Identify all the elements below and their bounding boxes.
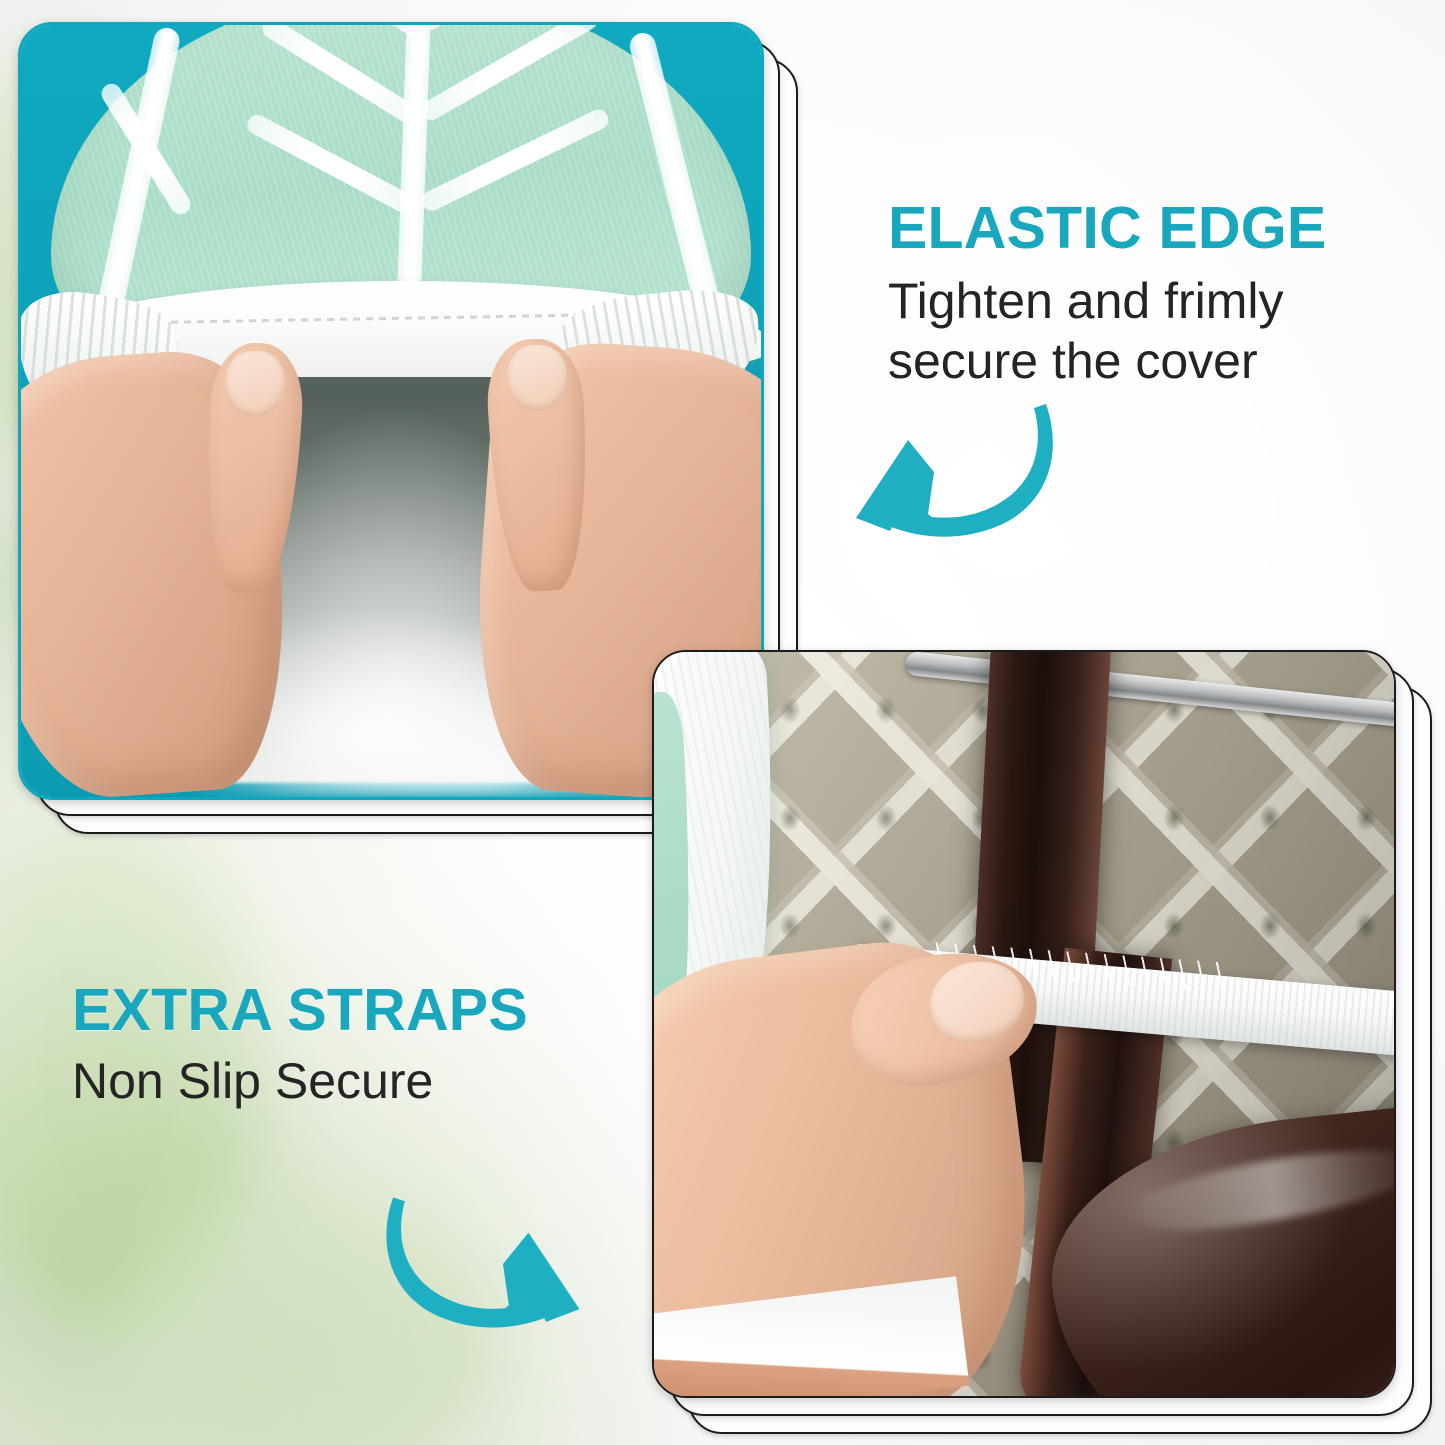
fabric-vein xyxy=(259,25,422,127)
fabric-vein xyxy=(419,106,612,214)
feature-title-elastic-edge: ELASTIC EDGE xyxy=(888,198,1326,259)
curved-arrow-right-icon xyxy=(348,1190,603,1340)
feature-subtitle-line2: secure the cover xyxy=(888,333,1258,389)
photo-card-extra-straps: A hand pressing a white velcro strap ont… xyxy=(652,650,1442,1440)
feature-block-elastic-edge: ELASTIC EDGE Tighten and frimly secure t… xyxy=(888,198,1326,391)
infographic-canvas: Two hands stretching the white elastic h… xyxy=(0,0,1445,1445)
feature-subtitle-elastic-edge: Tighten and frimly secure the cover xyxy=(888,271,1326,391)
fabric-vein xyxy=(244,111,417,216)
feature-subtitle-line1: Tighten and frimly xyxy=(888,273,1284,329)
photo-extra-straps: A hand pressing a white velcro strap ont… xyxy=(652,650,1396,1398)
curved-arrow-left-icon xyxy=(832,398,1092,548)
feature-block-extra-straps: EXTRA STRAPS Non Slip Secure xyxy=(72,980,528,1111)
fabric-vein xyxy=(397,25,433,289)
fabric-vein xyxy=(418,25,601,124)
feature-title-extra-straps: EXTRA STRAPS xyxy=(72,980,528,1041)
feature-subtitle-extra-straps: Non Slip Secure xyxy=(72,1051,528,1111)
